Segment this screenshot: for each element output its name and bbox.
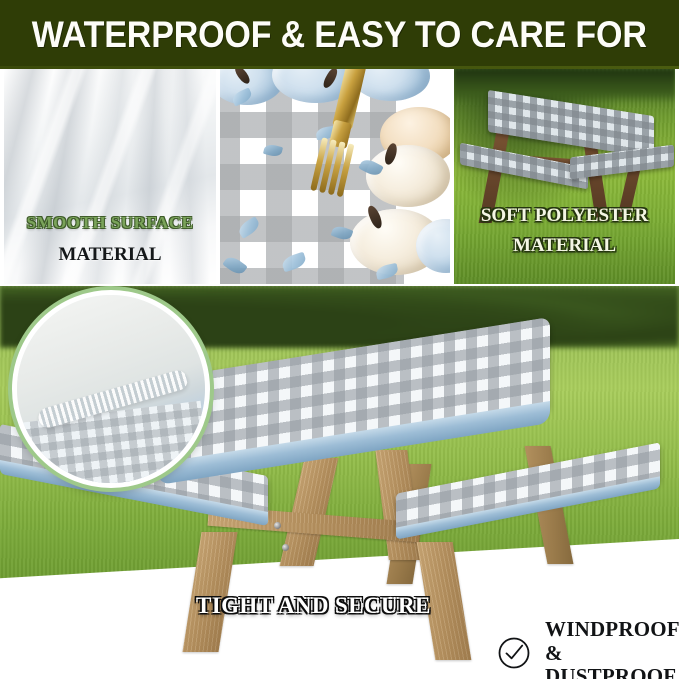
check-circle-icon [497,636,531,670]
badge-line-2: DUSTPROOF [545,665,679,679]
panel-1-caption-line2: MATERIAL [4,244,216,266]
feature-panel-strip: SMOOTH SURFACE MATERIAL [0,69,679,284]
panel-tablecloth-closeup [220,69,450,284]
windproof-badge: WINDPROOF & DUSTPROOF [497,618,679,679]
hero-caption: TIGHT AND SECURE [196,593,431,619]
product-infographic: WATERPROOF & EASY TO CARE FOR SMOOTH SUR… [0,0,679,679]
elastic-edge-inset [12,290,210,488]
panel-1-caption-line1: SMOOTH SURFACE [4,213,216,233]
table-leg-front-left [182,532,237,652]
header-banner: WATERPROOF & EASY TO CARE FOR [0,0,679,69]
badge-line-1: WINDPROOF & [545,618,679,665]
panel-3-caption-line1: SOFT POLYESTER [454,205,675,227]
page-title: WATERPROOF & EASY TO CARE FOR [32,16,647,53]
screw [274,522,281,529]
panel-3-caption-line2: MATERIAL [454,235,675,257]
table-top-cover [488,90,654,158]
pumpkin-cream [366,145,450,207]
bench-cover-left [460,143,588,190]
tablecloth-image [220,69,450,284]
panel-soft-polyester: SOFT POLYESTER MATERIAL [454,69,675,284]
screw [282,544,289,551]
badge-text: WINDPROOF & DUSTPROOF [545,618,679,679]
panel-smooth-surface: SMOOTH SURFACE MATERIAL [4,69,216,284]
